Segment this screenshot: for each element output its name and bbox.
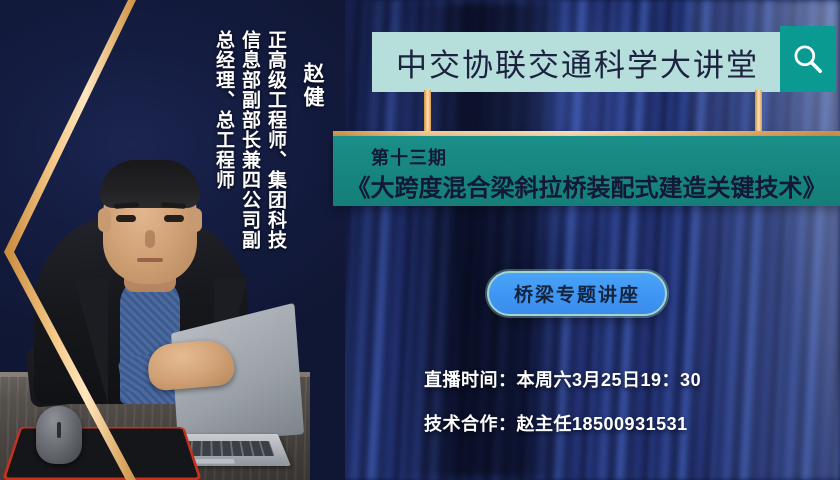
webinar-poster: 赵健 正高级工程师、集团科技 信息部副部长兼四公司副 总经理、总工程师 中交协联… bbox=[0, 0, 840, 480]
speaker-eye-right bbox=[164, 215, 184, 222]
gold-post-left bbox=[424, 90, 431, 136]
search-icon bbox=[791, 42, 825, 76]
header-banner-title: 中交协联交通科学大讲堂 bbox=[372, 40, 759, 85]
speaker-credential-line-3: 总经理、总工程师 bbox=[210, 30, 237, 190]
topic-badge-label: 桥梁专题讲座 bbox=[514, 280, 640, 307]
speaker-mouth bbox=[137, 258, 163, 262]
speaker-hands bbox=[146, 338, 236, 391]
live-time-text: 直播时间：本周六3月25日19：30 bbox=[424, 366, 701, 392]
speaker-credential-line-1: 正高级工程师、集团科技 bbox=[262, 30, 289, 250]
speaker-ear-right bbox=[189, 208, 202, 232]
lecture-title-card: 第十三期 《大跨度混合梁斜拉桥装配式建造关键技术》 bbox=[333, 136, 840, 206]
search-button[interactable] bbox=[780, 26, 836, 92]
chevron-stroke bbox=[4, 0, 136, 480]
speaker-nose bbox=[145, 230, 155, 248]
gold-chevron-divider bbox=[0, 0, 140, 480]
gold-post-right bbox=[755, 90, 762, 136]
topic-badge[interactable]: 桥梁专题讲座 bbox=[487, 271, 667, 316]
issue-number: 第十三期 bbox=[371, 144, 447, 170]
contact-text: 技术合作：赵主任18500931531 bbox=[424, 410, 688, 436]
speaker-name: 赵健 bbox=[297, 62, 327, 110]
lecture-title: 《大跨度混合梁斜拉桥装配式建造关键技术》 bbox=[333, 168, 840, 203]
speaker-credential-line-2: 信息部副部长兼四公司副 bbox=[236, 30, 263, 250]
header-banner: 中交协联交通科学大讲堂 bbox=[372, 32, 780, 92]
